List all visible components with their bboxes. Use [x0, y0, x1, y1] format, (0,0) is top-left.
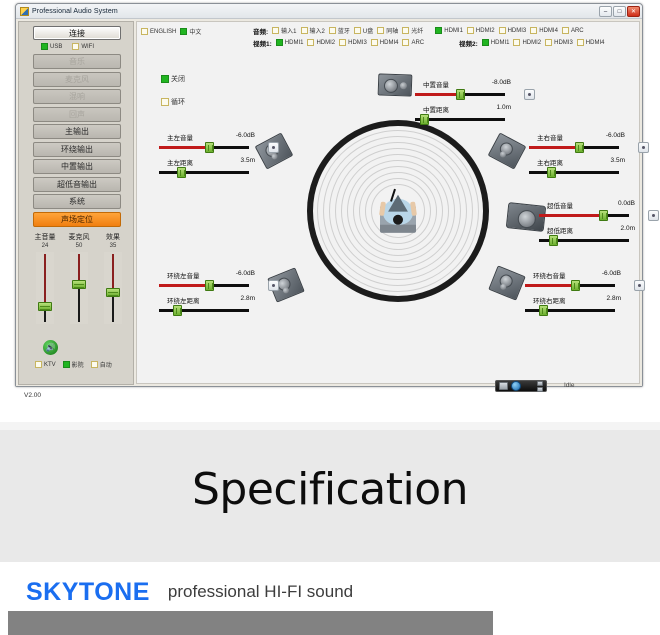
checkbox-video2-hdmi2[interactable]: HDMI2	[513, 39, 541, 46]
window-titlebar[interactable]: Professional Audio System – □ ✕	[16, 4, 642, 19]
control-line: 超低音量 0.0dB	[539, 200, 645, 209]
fader-label: 主音量	[29, 234, 61, 242]
slider-mute-button[interactable]	[648, 210, 659, 221]
slider-mute-button[interactable]	[268, 280, 279, 291]
specification-banner: Specification	[0, 430, 660, 562]
status-idle-label: Idle	[564, 382, 574, 389]
checkbox-video1-hdmi4[interactable]: HDMI4	[371, 39, 399, 46]
checkbox-box-icon	[41, 43, 48, 50]
control-line: 中置距离 1.0m	[415, 104, 521, 113]
checkbox-label: HDMI4	[586, 40, 605, 46]
control-label: 环绕左距离	[167, 295, 200, 305]
checkbox-label: HDMI2	[522, 40, 541, 46]
control-value: -6.0dB	[606, 132, 625, 139]
fader-value: 24	[29, 242, 61, 250]
control-label: 主左距离	[167, 157, 193, 167]
fader-track[interactable]	[70, 252, 88, 324]
slider-surround-left-distance[interactable]	[159, 305, 265, 316]
control-label: 超低距离	[547, 225, 573, 235]
checkbox-english[interactable]: ENGLISH	[141, 28, 176, 35]
slider-knob[interactable]	[205, 280, 214, 291]
slider-main-right-volume[interactable]	[529, 142, 635, 153]
checkbox-label: KTV	[44, 362, 56, 368]
checkbox-cinema[interactable]: 影院	[63, 360, 84, 369]
checkbox-box-icon	[161, 98, 169, 106]
checkbox-box-icon	[530, 27, 537, 34]
sidebar: 连接 USB WIFI 音乐 麦克风	[18, 21, 134, 385]
checkbox-video1-hdmi1[interactable]: HDMI1	[276, 39, 304, 46]
sidebar-item-sound-field[interactable]: 声场定位	[33, 212, 121, 227]
slider-center-distance[interactable]	[415, 114, 521, 125]
slider-rail-active	[159, 284, 206, 287]
checkbox-box-icon	[467, 27, 474, 34]
sidebar-item-subwoofer-output[interactable]: 超低音输出	[33, 177, 121, 192]
control-label: 中置音量	[423, 79, 449, 89]
slider-mute-button[interactable]	[634, 280, 645, 291]
checkbox-box-icon	[72, 43, 79, 50]
slider-subwoofer-distance[interactable]	[539, 235, 645, 246]
checkbox-audio-bluetooth[interactable]: 蓝牙	[329, 26, 350, 35]
brand-bar: SKYTONE professional HI-FI sound	[8, 573, 493, 611]
fader-knob[interactable]	[72, 280, 86, 289]
sidebar-item-music[interactable]: 音乐	[33, 54, 121, 69]
listener-figure-icon	[375, 191, 421, 235]
checkbox-label: HDMI1	[444, 28, 463, 34]
checkbox-label: 关闭	[171, 74, 185, 84]
slider-knob[interactable]	[420, 114, 429, 125]
checkbox-box-icon	[180, 28, 187, 35]
control-line: 主右距离 3.5m	[529, 157, 635, 166]
slider-mute-button[interactable]	[524, 89, 535, 100]
checkbox-wifi[interactable]: WIFI	[72, 43, 94, 50]
specification-title: Specification	[0, 464, 660, 515]
fader-track[interactable]	[36, 252, 54, 324]
control-value: 2.8m	[241, 295, 255, 302]
checkbox-box-icon	[91, 361, 98, 368]
control-label: 环绕右距离	[533, 295, 566, 305]
control-label: 主右距离	[537, 157, 563, 167]
player-extra-buttons	[537, 381, 543, 392]
checkbox-label: HDMI4	[380, 40, 399, 46]
brand-underbar	[8, 611, 493, 635]
video2-caption: 视频2:	[459, 38, 478, 48]
window-title: Professional Audio System	[32, 8, 118, 15]
control-line: 环绕左距离 2.8m	[159, 295, 265, 304]
checkbox-label: HDMI3	[348, 40, 367, 46]
language-row: ENGLISH 中文	[141, 26, 201, 37]
fader-value: 50	[63, 242, 95, 250]
sidebar-item-main-output[interactable]: 主输出	[33, 124, 121, 139]
speaker-center[interactable]	[378, 73, 413, 96]
slider-knob[interactable]	[205, 142, 214, 153]
connection-checkboxes: USB WIFI	[41, 43, 121, 50]
checkbox-box-icon	[272, 27, 279, 34]
slider-rail-active	[159, 146, 206, 149]
sidebar-item-reverb[interactable]: 混响	[33, 89, 121, 104]
slider-knob[interactable]	[456, 89, 465, 100]
listener-arm-right	[410, 201, 417, 216]
checkbox-label: ARC	[411, 40, 424, 46]
control-value: -8.0dB	[492, 79, 511, 86]
checkbox-box-icon	[339, 39, 346, 46]
checkbox-label: HDMI3	[508, 28, 527, 34]
checkbox-box-icon	[513, 39, 520, 46]
audio-source-selector: 音频: 输入1 输入2 蓝牙 U盘 同轴 光纤 HDMI1 HDMI2 HDMI…	[253, 25, 584, 36]
checkbox-label: HDMI2	[316, 40, 335, 46]
video1-source-selector: 视频1: HDMI1 HDMI2 HDMI3 HDMI4 ARC	[253, 37, 424, 48]
dot-icon	[528, 93, 531, 96]
minimize-button[interactable]: –	[599, 6, 612, 17]
control-line: 超低距离 2.0m	[539, 225, 645, 234]
media-player-widget[interactable]	[495, 380, 547, 392]
checkbox-video1-arc[interactable]: ARC	[402, 39, 424, 46]
checkbox-box-icon	[545, 39, 552, 46]
checkbox-label: HDMI3	[554, 40, 573, 46]
control-group-main-right: 主右音量 -6.0dB 主右距离 3.5m	[529, 132, 635, 178]
maximize-button[interactable]: □	[613, 6, 626, 17]
checkbox-audio-hdmi2[interactable]: HDMI2	[467, 27, 495, 34]
close-button[interactable]: ✕	[627, 6, 640, 17]
control-line: 主左音量 -6.0dB	[159, 132, 265, 141]
banner-gap	[0, 422, 660, 430]
fader-rail-active	[112, 254, 114, 290]
checkbox-box-icon	[35, 361, 42, 368]
stop-icon[interactable]	[537, 387, 543, 392]
checkbox-label: 自动	[100, 360, 112, 369]
checkbox-usb[interactable]: USB	[41, 43, 62, 50]
checkbox-box-icon	[276, 39, 283, 46]
control-value: 3.5m	[241, 157, 255, 164]
checkbox-label: 光纤	[411, 26, 423, 35]
dot-icon	[272, 146, 275, 149]
slider-mute-button[interactable]	[268, 142, 279, 153]
control-line: 中置音量 -8.0dB	[415, 79, 521, 88]
checkbox-close[interactable]: 关闭	[161, 74, 185, 84]
checkbox-label: HDMI1	[491, 40, 510, 46]
slider-subwoofer-volume[interactable]	[539, 210, 645, 221]
checkbox-video2-hdmi3[interactable]: HDMI3	[545, 39, 573, 46]
control-line: 主左距离 3.5m	[159, 157, 265, 166]
checkbox-label: HDMI1	[285, 40, 304, 46]
mode-checkboxes: KTV 影院 自动	[35, 360, 131, 369]
checkbox-box-icon	[141, 28, 148, 35]
checkbox-label: U盘	[363, 26, 373, 35]
slider-main-left-volume[interactable]	[159, 142, 265, 153]
control-group-subwoofer: 超低音量 0.0dB 超低距离 2.0m	[539, 200, 645, 246]
slider-knob[interactable]	[599, 210, 608, 221]
slider-rail-active	[539, 214, 600, 217]
checkbox-auto[interactable]: 自动	[91, 360, 112, 369]
checkbox-audio-hdmi1[interactable]: HDMI1	[435, 27, 463, 34]
slider-rail-active	[415, 93, 457, 96]
connect-button[interactable]: 连接	[33, 26, 121, 40]
play-icon[interactable]	[511, 381, 521, 391]
checkbox-box-icon	[482, 39, 489, 46]
prev-icon[interactable]	[499, 382, 508, 390]
fader-rail-active	[44, 254, 46, 304]
video2-source-row: 视频2: HDMI1 HDMI2 HDMI3 HDMI4	[459, 37, 604, 48]
control-value: 2.8m	[607, 295, 621, 302]
next-icon[interactable]	[537, 381, 543, 386]
fader-knob[interactable]	[38, 302, 52, 311]
sound-field-stage: ENGLISH 中文 音频: 输入1 输	[136, 21, 640, 384]
listener-head	[393, 215, 403, 225]
checkbox-label: 同轴	[386, 26, 398, 35]
checkbox-loop[interactable]: 循环	[161, 97, 185, 107]
checkbox-audio-input1[interactable]: 输入1	[272, 26, 296, 35]
control-label: 环绕右音量	[533, 270, 566, 280]
control-value: 0.0dB	[618, 200, 635, 207]
control-value: -6.0dB	[236, 270, 255, 277]
control-label: 主右音量	[537, 132, 563, 142]
checkbox-label: 中文	[189, 27, 201, 36]
checkbox-box-icon	[499, 27, 506, 34]
control-value: -6.0dB	[236, 132, 255, 139]
fader-microphone[interactable]: 麦克风 50	[63, 234, 95, 324]
checkbox-box-icon	[402, 27, 409, 34]
audio-source-caption: 音频:	[253, 26, 268, 36]
slider-knob[interactable]	[177, 167, 186, 178]
speaker-surround-right[interactable]	[488, 265, 526, 300]
control-value: 3.5m	[611, 157, 625, 164]
checkbox-label: 影院	[72, 360, 84, 369]
app-icon	[20, 7, 29, 16]
app-screenshot-area: Professional Audio System – □ ✕ 连接 USB	[0, 0, 660, 430]
slider-knob[interactable]	[549, 235, 558, 246]
language-selector: ENGLISH 中文	[141, 26, 201, 37]
fader-track[interactable]	[104, 252, 122, 324]
dot-icon	[272, 284, 275, 287]
fader-effect[interactable]: 效果 35	[97, 234, 129, 324]
control-line: 环绕右距离 2.8m	[525, 295, 631, 304]
checkbox-box-icon	[371, 39, 378, 46]
checkbox-video1-hdmi2[interactable]: HDMI2	[307, 39, 335, 46]
checkbox-label: 输入2	[310, 26, 325, 35]
audio-source-row: 音频: 输入1 输入2 蓝牙 U盘 同轴 光纤 HDMI1 HDMI2 HDMI…	[253, 25, 584, 36]
control-line: 主右音量 -6.0dB	[529, 132, 635, 141]
checkbox-audio-usb-disk[interactable]: U盘	[354, 26, 373, 35]
sidebar-nav: 音乐 麦克风 混响 回声 主输出 环绕输出 中置输出 超低音输出 系统 声场定位	[33, 54, 121, 229]
checkbox-box-icon	[402, 39, 409, 46]
checkbox-audio-optical[interactable]: 光纤	[402, 26, 423, 35]
control-line: 环绕右音量 -6.0dB	[525, 270, 631, 279]
slider-main-right-distance[interactable]	[529, 167, 635, 178]
window-controls: – □ ✕	[599, 6, 640, 17]
fader-master-volume[interactable]: 主音量 24	[29, 234, 61, 324]
dot-icon	[652, 214, 655, 217]
sidebar-item-surround-output[interactable]: 环绕输出	[33, 142, 121, 157]
control-value: -6.0dB	[602, 270, 621, 277]
slider-knob[interactable]	[547, 167, 556, 178]
control-label: 环绕左音量	[167, 270, 200, 280]
checkbox-box-icon	[562, 27, 569, 34]
checkbox-label: HDMI4	[539, 28, 558, 34]
control-line: 环绕左音量 -6.0dB	[159, 270, 265, 279]
brand-name: SKYTONE	[26, 578, 150, 607]
sidebar-item-system[interactable]: 系统	[33, 194, 121, 209]
dot-icon	[642, 146, 645, 149]
control-group-main-left: 主左音量 -6.0dB 主左距离 3.5m	[159, 132, 265, 178]
slider-rail-active	[529, 146, 576, 149]
control-group-surround-right: 环绕右音量 -6.0dB 环绕右距离 2.8m	[525, 270, 631, 316]
checkbox-audio-coaxial[interactable]: 同轴	[377, 26, 398, 35]
sidebar-item-echo[interactable]: 回声	[33, 107, 121, 122]
checkbox-box-icon	[377, 27, 384, 34]
checkbox-box-icon	[435, 27, 442, 34]
checkbox-label: WIFI	[81, 44, 94, 50]
fader-label: 效果	[97, 234, 129, 242]
checkbox-ktv[interactable]: KTV	[35, 361, 56, 368]
version-label: V2.00	[24, 392, 41, 399]
control-label: 超低音量	[547, 200, 573, 210]
slider-rail	[159, 171, 249, 174]
slider-center-volume[interactable]	[415, 89, 521, 100]
checkbox-label: 输入1	[281, 26, 296, 35]
slider-surround-right-volume[interactable]	[525, 280, 631, 291]
checkbox-box-icon	[329, 27, 336, 34]
window-client-area: 连接 USB WIFI 音乐 麦克风	[16, 19, 642, 386]
checkbox-video2-hdmi1[interactable]: HDMI1	[482, 39, 510, 46]
slider-knob[interactable]	[539, 305, 548, 316]
slider-knob[interactable]	[173, 305, 182, 316]
slider-surround-right-distance[interactable]	[525, 305, 631, 316]
checkbox-label: HDMI2	[476, 28, 495, 34]
slider-rail-active	[525, 284, 572, 287]
checkbox-box-icon	[307, 39, 314, 46]
playback-toggles: 关闭 循环	[161, 70, 185, 116]
checkbox-box-icon	[577, 39, 584, 46]
control-label: 主左音量	[167, 132, 193, 142]
control-group-surround-left: 环绕左音量 -6.0dB 环绕左距离 2.8m	[159, 270, 265, 316]
control-group-center: 中置音量 -8.0dB 中置距离 1.0m	[415, 79, 521, 125]
sidebar-faders: 主音量 24 麦克风 50	[25, 234, 133, 344]
speaker-main-right[interactable]	[488, 132, 527, 169]
sidebar-item-microphone[interactable]: 麦克风	[33, 72, 121, 87]
video2-source-selector: 视频2: HDMI1 HDMI2 HDMI3 HDMI4	[459, 37, 604, 48]
video1-caption: 视频1:	[253, 38, 272, 48]
checkbox-box-icon	[354, 27, 361, 34]
control-value: 2.0m	[621, 225, 635, 232]
listener-chair-base	[380, 225, 416, 233]
checkbox-label: ARC	[571, 28, 584, 34]
speaker-icon[interactable]: 🔊	[43, 340, 58, 355]
application-window: Professional Audio System – □ ✕ 连接 USB	[15, 3, 643, 387]
page-root: Professional Audio System – □ ✕ 连接 USB	[0, 0, 660, 635]
control-value: 1.0m	[497, 104, 511, 111]
sound-wave-rings	[305, 118, 491, 304]
dot-icon	[638, 284, 641, 287]
sidebar-item-center-output[interactable]: 中置输出	[33, 159, 121, 174]
checkbox-box-icon	[63, 361, 70, 368]
checkbox-audio-hdmi4[interactable]: HDMI4	[530, 27, 558, 34]
checkbox-audio-hdmi3[interactable]: HDMI3	[499, 27, 527, 34]
slider-knob[interactable]	[575, 142, 584, 153]
checkbox-label: 蓝牙	[338, 26, 350, 35]
fader-knob[interactable]	[106, 288, 120, 297]
slider-rail	[529, 171, 619, 174]
checkbox-video1-hdmi3[interactable]: HDMI3	[339, 39, 367, 46]
fader-rail-active	[78, 254, 80, 282]
slider-mute-button[interactable]	[638, 142, 649, 153]
checkbox-audio-arc[interactable]: ARC	[562, 27, 584, 34]
brand-tagline: professional HI-FI sound	[168, 582, 353, 602]
checkbox-audio-input2[interactable]: 输入2	[301, 26, 325, 35]
checkbox-box-icon	[161, 75, 169, 83]
checkbox-label: USB	[50, 44, 62, 50]
checkbox-label: 循环	[171, 97, 185, 107]
fader-label: 麦克风	[63, 234, 95, 242]
checkbox-box-icon	[301, 27, 308, 34]
control-label: 中置距离	[423, 104, 449, 114]
slider-main-left-distance[interactable]	[159, 167, 265, 178]
slider-surround-left-volume[interactable]	[159, 280, 265, 291]
checkbox-label: ENGLISH	[150, 29, 176, 35]
checkbox-chinese[interactable]: 中文	[180, 27, 201, 36]
fader-value: 35	[97, 242, 129, 250]
video1-source-row: 视频1: HDMI1 HDMI2 HDMI3 HDMI4 ARC	[253, 37, 424, 48]
checkbox-video2-hdmi4[interactable]: HDMI4	[577, 39, 605, 46]
slider-knob[interactable]	[571, 280, 580, 291]
